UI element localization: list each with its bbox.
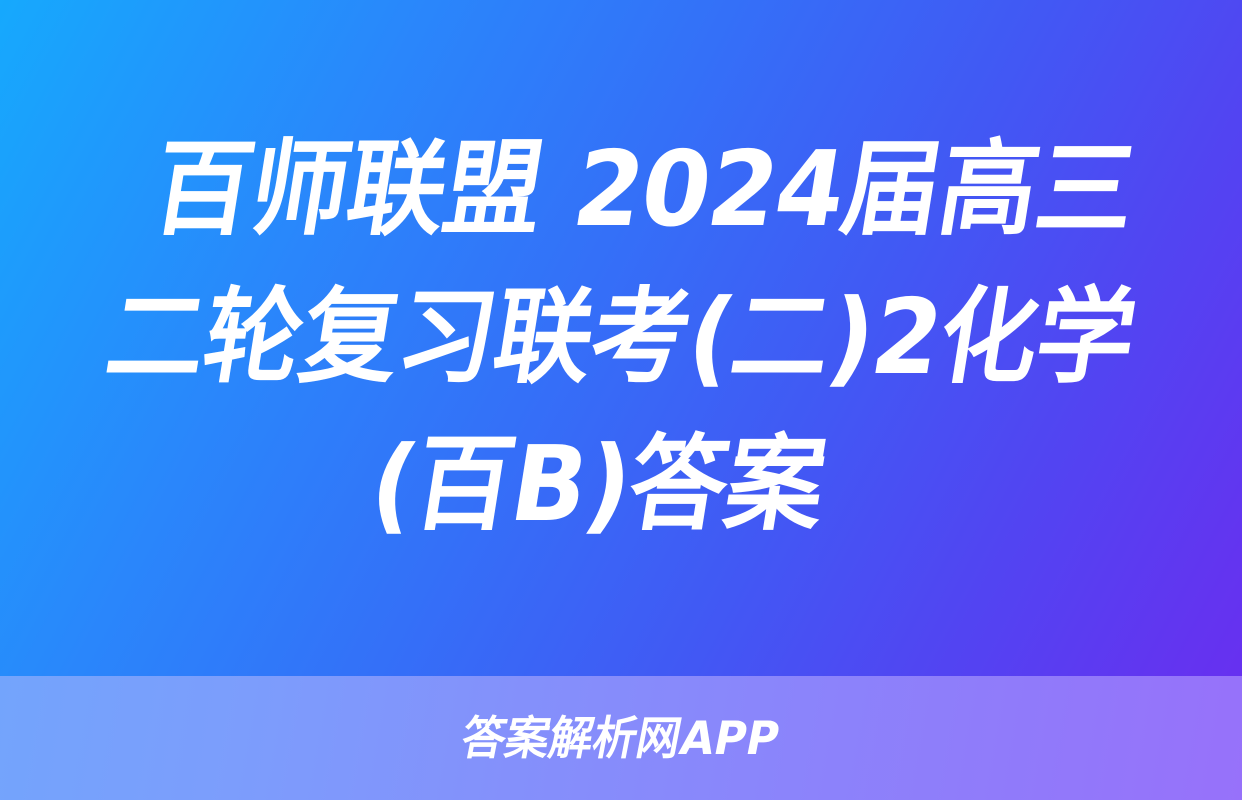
poster-canvas: 百师联盟 2024届高三二轮复习联考(二)2化学(百B)答案 答案解析网APP	[0, 0, 1242, 800]
brand-watermark-label: 答案解析网APP	[458, 715, 783, 761]
footer-brand-band: 答案解析网APP	[0, 676, 1242, 800]
hero-section: 百师联盟 2024届高三二轮复习联考(二)2化学(百B)答案	[0, 0, 1242, 676]
page-title: 百师联盟 2024届高三二轮复习联考(二)2化学(百B)答案	[68, 116, 1174, 559]
